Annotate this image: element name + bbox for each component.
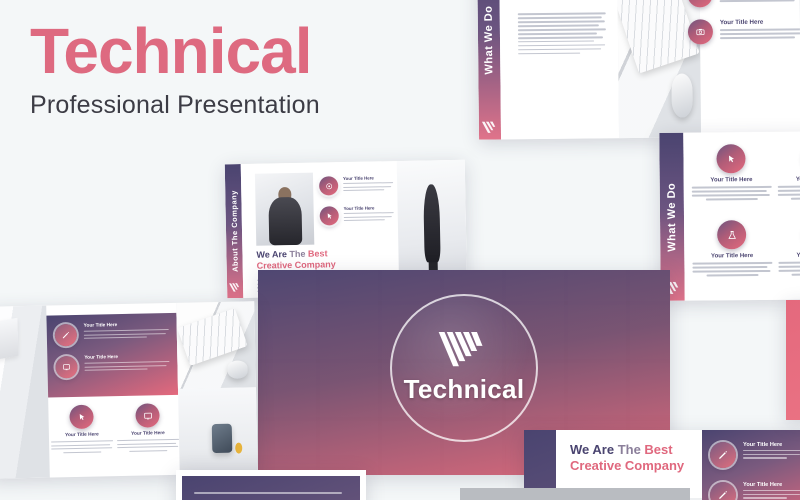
panel-item-title: Your Title Here: [84, 354, 169, 361]
hero-title-block: Technical Professional Presentation: [30, 18, 320, 120]
list-item-title: Your Title Here: [720, 18, 800, 26]
panel-item-title: Your Title Here: [84, 322, 169, 329]
page-subtitle: Professional Presentation: [30, 91, 320, 120]
slide-body-text: [182, 478, 360, 494]
panel-item[interactable]: Your Title Here: [710, 442, 800, 468]
pencil-icon[interactable]: [710, 482, 736, 500]
sidebar-tab-label: About The Company: [229, 190, 240, 272]
grid-item-body: [777, 185, 800, 199]
chevron-stripes-logo-icon: [438, 332, 490, 370]
grid-item-body: [692, 262, 772, 276]
target-icon[interactable]: [319, 176, 338, 195]
slide-heading: We Are The Best Creative Company: [556, 430, 702, 475]
slide-features-left[interactable]: Your Title Here Your Title Here: [0, 301, 258, 479]
slide-accent-strip: [786, 300, 800, 420]
panel-item[interactable]: Your Title Here: [710, 482, 800, 500]
pencil-icon[interactable]: [710, 442, 736, 468]
bottom-grey-strip: [460, 488, 690, 500]
monitor-icon[interactable]: [55, 356, 77, 378]
feature-gradient-panel: Your Title Here Your Title Here: [702, 430, 800, 500]
presentation-preview: Technical Professional Presentation What…: [0, 0, 800, 500]
grid-item-title: Your Title Here: [51, 432, 113, 438]
grid-item[interactable]: Your Title Here: [692, 220, 772, 289]
heading-part-2: The: [618, 442, 645, 457]
flask-icon[interactable]: [717, 220, 746, 249]
feature-grid: Your Title Here Your Title Here: [50, 403, 179, 454]
list-item[interactable]: Your Title Here: [687, 0, 800, 7]
sidebar-tab-label: What We Do: [483, 5, 496, 74]
keyboard-and-mouse-photo: [176, 301, 256, 389]
heading-part-1: We Are: [256, 249, 289, 260]
grid-item-title: Your Title Here: [117, 431, 179, 437]
list-item-title: Your Title Here: [344, 205, 394, 211]
panel-item-body: [743, 450, 800, 459]
cursor-icon[interactable]: [717, 144, 746, 173]
grid-item-body: [778, 261, 800, 275]
grid-item-body: [117, 439, 179, 452]
cursor-icon[interactable]: [69, 405, 93, 429]
list-item-body: [720, 0, 800, 2]
list-item[interactable]: Your Title Here: [320, 205, 394, 225]
slide-what-we-do-list[interactable]: What We Do We Are The Best Creative Comp…: [477, 0, 800, 140]
slide-what-we-do-grid[interactable]: What We Do Your Title Here: [659, 131, 800, 301]
slide-heading: We Are The Best Creative Company: [256, 248, 335, 272]
grid-item-body: [51, 440, 113, 453]
office-interior-photo: [0, 306, 50, 479]
list-item-title: Your Title Here: [343, 175, 393, 181]
grid-item-title: Your Title Here: [692, 253, 772, 260]
grid-item[interactable]: Your Title Here: [116, 403, 179, 452]
panel-item-title: Your Title Here: [743, 442, 800, 448]
heading-line-2: Creative Company: [570, 458, 702, 474]
list-item-body: [720, 28, 800, 39]
slide-right-edge-sliver[interactable]: [786, 300, 800, 420]
slide-dark-body: [182, 476, 360, 500]
heading-part-1: We Are: [570, 442, 618, 457]
feature-gradient-panel: Your Title Here Your Title Here: [46, 313, 178, 398]
slide-sidebar-tab[interactable]: What We Do: [477, 0, 501, 140]
panel-item-body: [743, 490, 800, 499]
list-item[interactable]: Your Title Here: [688, 18, 800, 44]
grid-item[interactable]: Your Title Here: [50, 404, 113, 453]
heading-part-2: The: [289, 249, 308, 259]
cursor-icon[interactable]: [320, 206, 339, 225]
heading-part-3: Best: [644, 442, 672, 457]
brand-logo-circle: Technical: [390, 294, 538, 442]
grid-item-title: Your Title Here: [777, 176, 800, 183]
monitor-icon[interactable]: [687, 0, 712, 7]
page-title: Technical: [30, 18, 320, 85]
feature-item-list: Your Title Here Your Title Here: [687, 0, 800, 44]
list-item-body: [344, 212, 394, 221]
list-item-body: [343, 182, 393, 191]
slide-bottom-dark[interactable]: [176, 470, 366, 500]
bag-photo: [178, 387, 258, 475]
panel-item[interactable]: Your Title Here: [55, 322, 169, 346]
grid-item-body: [692, 186, 772, 200]
grid-item[interactable]: Your Title Here: [778, 219, 800, 288]
monitor-icon[interactable]: [135, 403, 159, 427]
grid-item-title: Your Title Here: [778, 252, 800, 259]
feature-item-list: Your Title Here Your Title Here: [319, 175, 394, 225]
sidebar-tab-label: What We Do: [666, 182, 679, 251]
panel-item-body: [84, 361, 169, 371]
panel-item-title: Your Title Here: [743, 482, 800, 488]
brand-name: Technical: [404, 374, 525, 405]
pencil-icon[interactable]: [55, 324, 77, 346]
chevron-stripes-logo-icon: [229, 283, 241, 292]
heading-part-3: Best: [308, 248, 328, 258]
grid-item-title: Your Title Here: [692, 177, 772, 184]
camera-icon[interactable]: [688, 19, 713, 44]
grid-item[interactable]: Your Title Here: [777, 143, 800, 212]
chevron-stripes-logo-icon: [482, 121, 498, 133]
slide-body-text: [518, 12, 606, 57]
grid-item[interactable]: Your Title Here: [691, 144, 771, 213]
list-item[interactable]: Your Title Here: [319, 175, 393, 195]
man-on-phone-photo: [255, 173, 314, 246]
panel-item-body: [84, 329, 169, 339]
panel-item[interactable]: Your Title Here: [55, 354, 169, 378]
